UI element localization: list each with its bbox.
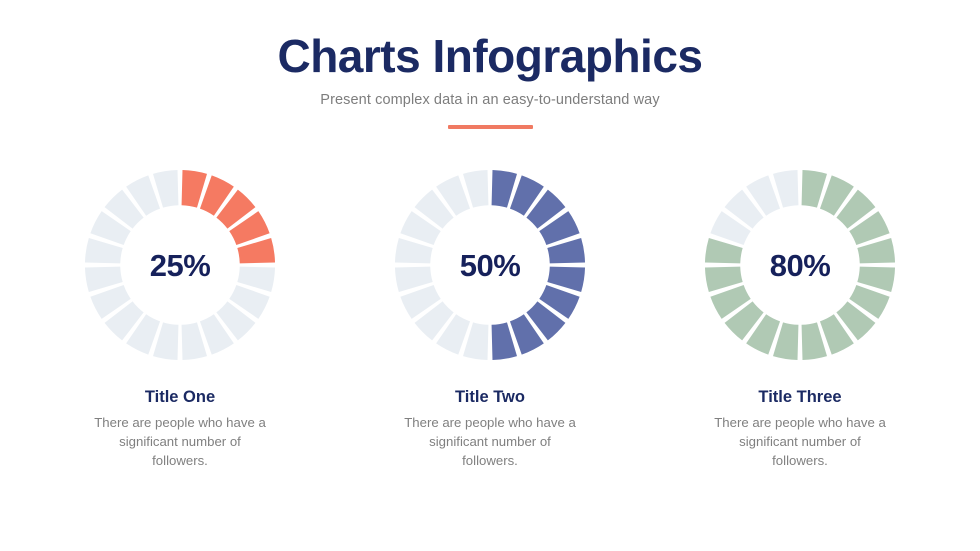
title-divider: [448, 125, 533, 129]
charts-row: 25% Title One There are people who have …: [0, 167, 980, 470]
chart-title-2: Title Two: [455, 388, 525, 408]
chart-description-2: There are people who have a significant …: [403, 414, 578, 470]
chart-description-3: There are people who have a significant …: [713, 414, 888, 470]
chart-card-2: 50% Title Two There are people who have …: [388, 167, 593, 470]
page-title: Charts Infographics: [0, 32, 980, 80]
page-subtitle: Present complex data in an easy-to-under…: [0, 92, 980, 108]
chart-description-1: There are people who have a significant …: [93, 414, 268, 470]
slide-header: Charts Infographics Present complex data…: [0, 0, 980, 129]
donut-chart-1[interactable]: 25%: [82, 167, 278, 363]
chart-card-3: 80% Title Three There are people who hav…: [698, 167, 903, 470]
donut-svg-2: [392, 167, 588, 363]
donut-svg-3: [702, 167, 898, 363]
donut-svg-1: [82, 167, 278, 363]
chart-title-1: Title One: [145, 388, 215, 408]
donut-chart-3[interactable]: 80%: [702, 167, 898, 363]
chart-card-1: 25% Title One There are people who have …: [78, 167, 283, 470]
chart-title-3: Title Three: [758, 388, 841, 408]
donut-chart-2[interactable]: 50%: [392, 167, 588, 363]
slide-canvas: Charts Infographics Present complex data…: [0, 0, 980, 551]
